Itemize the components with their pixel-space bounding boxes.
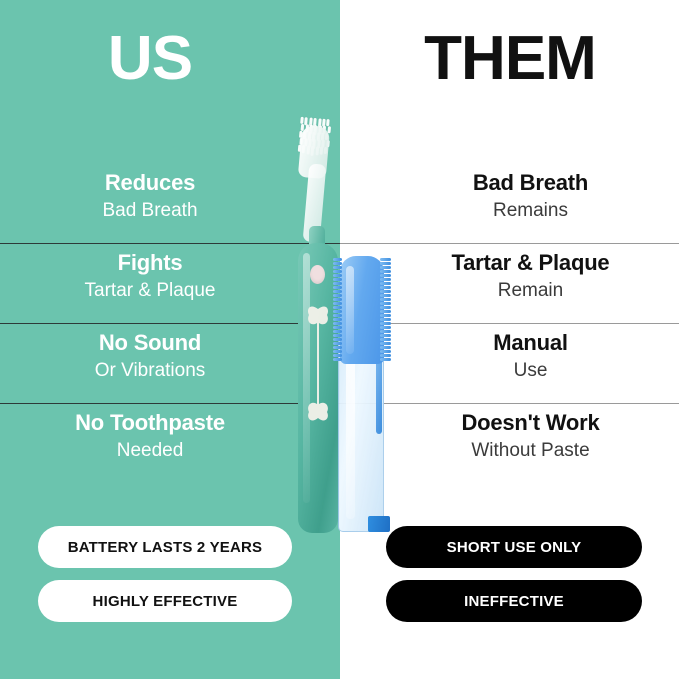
- row-subtitle: Bad Breath: [0, 199, 300, 224]
- row-subtitle: Without Paste: [382, 439, 679, 464]
- left-badges: BATTERY LASTS 2 YEARS HIGHLY EFFECTIVE: [38, 526, 292, 622]
- row-subtitle: Remain: [382, 279, 679, 304]
- badge-ineffective[interactable]: INEFFECTIVE: [386, 580, 642, 622]
- comparison-infographic: US THEM Reduces Bad Breath Fights Tartar…: [0, 0, 679, 679]
- comparison-row: Bad Breath Remains: [340, 163, 679, 243]
- badge-battery-life[interactable]: BATTERY LASTS 2 YEARS: [38, 526, 292, 568]
- comparison-row: No Sound Or Vibrations: [0, 323, 340, 403]
- row-subtitle: Remains: [382, 199, 679, 224]
- row-title: Manual: [382, 329, 679, 357]
- left-comparison-rows: Reduces Bad Breath Fights Tartar & Plaqu…: [0, 163, 340, 483]
- badge-highly-effective[interactable]: HIGHLY EFFECTIVE: [38, 580, 292, 622]
- comparison-row: No Toothpaste Needed: [0, 403, 340, 483]
- row-title: No Toothpaste: [0, 409, 300, 437]
- row-subtitle: Use: [382, 359, 679, 384]
- comparison-row: Fights Tartar & Plaque: [0, 243, 340, 323]
- comparison-row: Manual Use: [340, 323, 679, 403]
- row-title: No Sound: [0, 329, 300, 357]
- row-subtitle: Needed: [0, 439, 300, 464]
- row-title: Bad Breath: [382, 169, 679, 197]
- comparison-row: Doesn't Work Without Paste: [340, 403, 679, 483]
- right-column-heading: THEM: [372, 28, 648, 90]
- comparison-row: Reduces Bad Breath: [0, 163, 340, 243]
- badge-short-use-only[interactable]: SHORT USE ONLY: [386, 526, 642, 568]
- row-title: Reduces: [0, 169, 300, 197]
- comparison-row: Tartar & Plaque Remain: [340, 243, 679, 323]
- row-title: Fights: [0, 249, 300, 277]
- right-badges: SHORT USE ONLY INEFFECTIVE: [386, 526, 642, 622]
- row-subtitle: Tartar & Plaque: [0, 279, 300, 304]
- left-column-heading: US: [0, 28, 300, 90]
- right-comparison-rows: Bad Breath Remains Tartar & Plaque Remai…: [340, 163, 679, 483]
- row-title: Doesn't Work: [382, 409, 679, 437]
- row-title: Tartar & Plaque: [382, 249, 679, 277]
- row-subtitle: Or Vibrations: [0, 359, 300, 384]
